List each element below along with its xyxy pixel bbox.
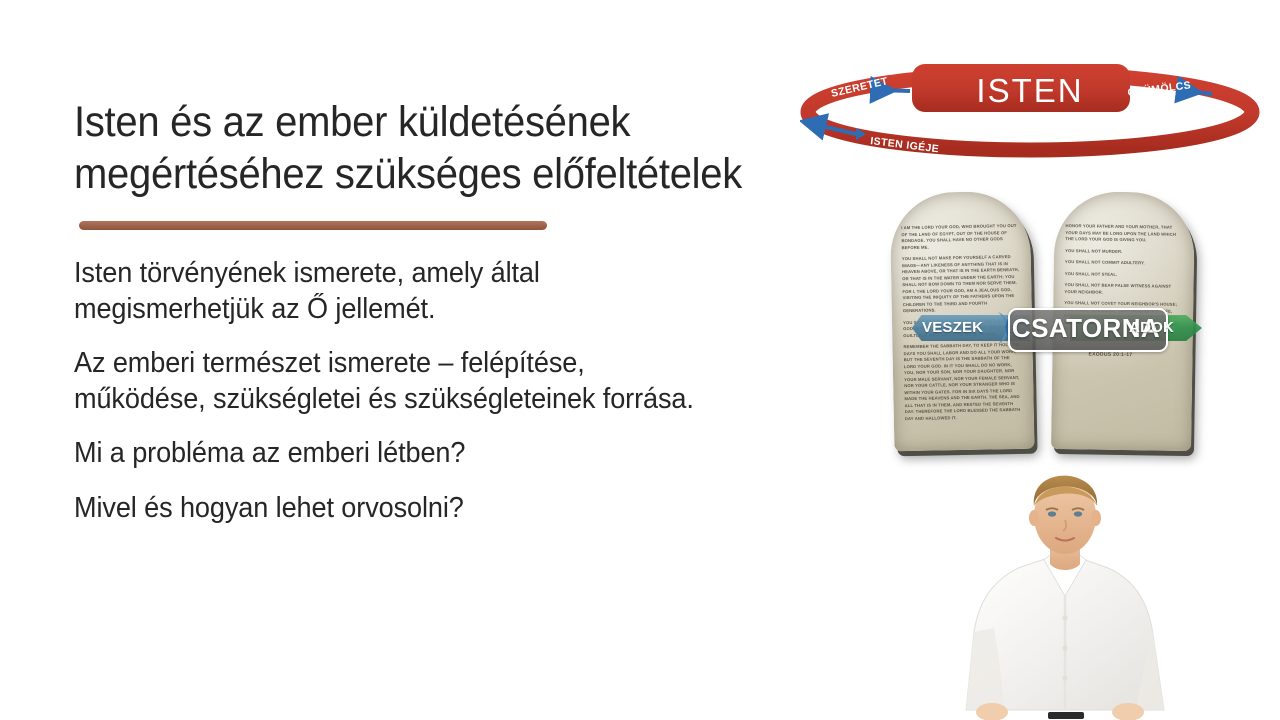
commandment-paragraph: YOU SHALL NOT BEAR FALSE WITNESS AGAINST… bbox=[1064, 282, 1182, 297]
list-item: Mivel és hogyan lehet orvosolni? bbox=[74, 491, 768, 527]
banner-label-adok: ADOK bbox=[1129, 319, 1174, 336]
commandment-paragraph: HONOR YOUR FATHER AND YOUR MOTHER, THAT … bbox=[1065, 223, 1183, 244]
list-item: Az emberi természet ismerete – felépítés… bbox=[74, 346, 768, 417]
ear-left bbox=[1029, 510, 1039, 526]
slide-text-column: Isten és az ember küldetésének megértésé… bbox=[74, 96, 804, 527]
isten-center-box bbox=[912, 64, 1130, 112]
commandment-paragraph: REMEMBER THE SABBATH DAY, TO KEEP IT HOL… bbox=[903, 342, 1022, 422]
loop-label-szeretet: SZERETET bbox=[830, 75, 889, 100]
bullet-list: Isten törvényének ismerete, amely által … bbox=[74, 256, 804, 527]
presentation-slide: Isten és az ember küldetésének megértésé… bbox=[0, 0, 1280, 720]
eye-right bbox=[1074, 511, 1082, 516]
shirt-button bbox=[1062, 615, 1067, 620]
belt bbox=[1048, 712, 1084, 719]
scripture-reference: EXODUS 20:1-17 bbox=[1088, 351, 1132, 358]
commandment-paragraph: YOU SHALL NOT COMMIT ADULTERY. bbox=[1065, 259, 1183, 267]
commandment-paragraph: YOU SHALL NOT STEAL. bbox=[1065, 271, 1183, 279]
commandment-paragraph: YOU SHALL NOT MURDER. bbox=[1065, 248, 1183, 256]
isten-loop-diagram: SZERETET GYÜMÖLCS ISTEN IGÉJE ISTEN bbox=[800, 52, 1260, 158]
presenter-photo bbox=[952, 472, 1178, 720]
page-title: Isten és az ember küldetésének megértésé… bbox=[74, 96, 753, 201]
list-item: Isten törvényének ismerete, amely által … bbox=[74, 256, 768, 327]
shirt-button bbox=[1062, 645, 1067, 650]
list-item: Mi a probléma az emberi létben? bbox=[74, 436, 768, 472]
title-underline-accent bbox=[79, 221, 547, 230]
commandment-paragraph: I AM THE LORD YOUR GOD, WHO BROUGHT YOU … bbox=[901, 223, 1019, 251]
szeretet-arrow bbox=[874, 90, 910, 91]
ear-right bbox=[1091, 510, 1101, 526]
banner-label-veszek: VESZEK bbox=[922, 319, 983, 336]
csatorna-banner: VESZEK CSATORNA ADOK bbox=[912, 306, 1202, 350]
eye-left bbox=[1048, 511, 1056, 516]
shirt-button bbox=[1062, 675, 1067, 680]
